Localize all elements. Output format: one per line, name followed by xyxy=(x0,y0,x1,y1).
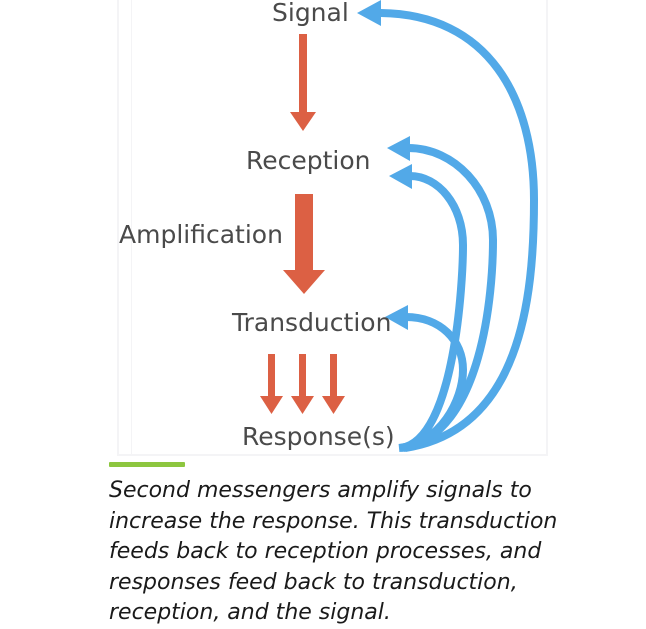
arrow-transduction-to-responses-1 xyxy=(260,354,283,414)
node-label-responses: Response(s) xyxy=(242,424,395,449)
arrow-signal-to-reception xyxy=(290,34,316,131)
arrow-reception-to-transduction xyxy=(283,194,325,294)
arrow-transduction-to-responses-3 xyxy=(322,354,345,414)
node-label-signal: Signal xyxy=(272,0,349,25)
figure-panel: Signal Reception Transduction Response(s… xyxy=(0,0,646,458)
caption-accent-rule xyxy=(109,462,185,467)
arrow-transduction-to-responses-2 xyxy=(291,354,314,414)
annotation-label-amplification: Amplification xyxy=(119,222,283,247)
signaling-diagram xyxy=(0,0,646,458)
figure-caption-text: Second messengers amplify signals to inc… xyxy=(109,476,589,629)
node-label-reception: Reception xyxy=(246,148,371,173)
node-label-transduction: Transduction xyxy=(232,310,391,335)
figure-caption-block: Second messengers amplify signals to inc… xyxy=(109,462,629,629)
